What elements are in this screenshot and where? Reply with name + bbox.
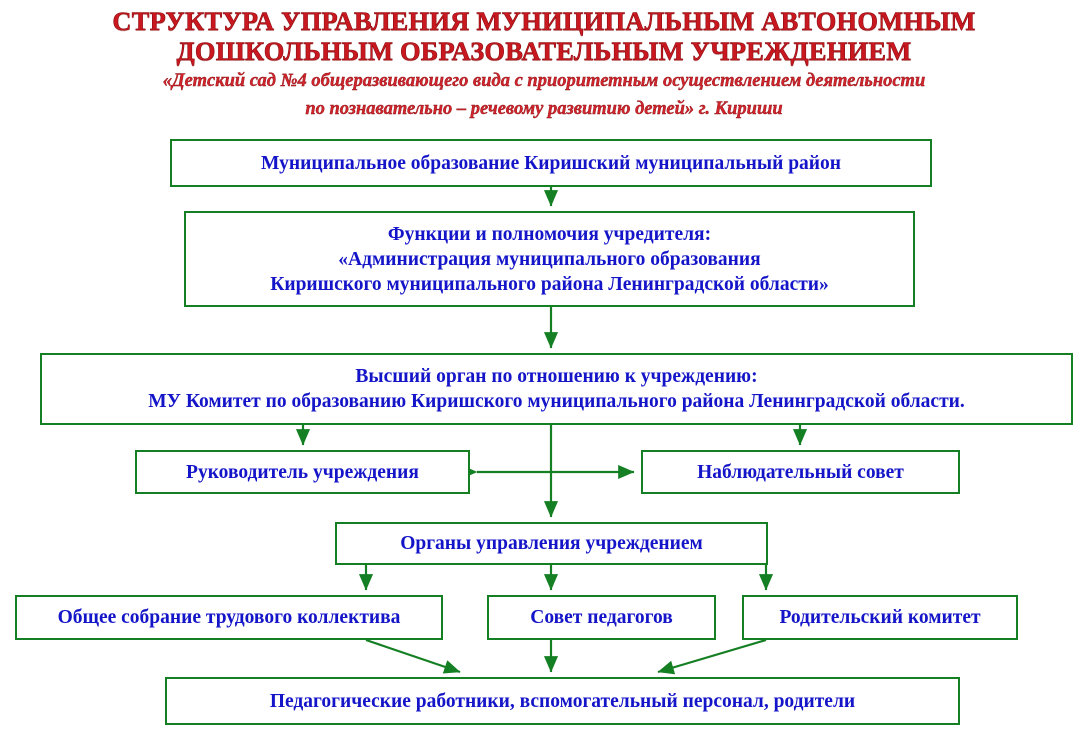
node-management-bodies[interactable]: Органы управления учреждением bbox=[335, 522, 768, 565]
node-text: Наблюдательный совет bbox=[649, 460, 952, 485]
node-teachers-council[interactable]: Совет педагогов bbox=[487, 595, 716, 640]
node-text: Руководитель учреждения bbox=[143, 460, 462, 485]
node-staff-and-parents[interactable]: Педагогические работники, вспомогательны… bbox=[165, 677, 960, 725]
node-text: Высший орган по отношению к учреждению: bbox=[48, 364, 1065, 389]
node-text: Педагогические работники, вспомогательны… bbox=[173, 689, 952, 714]
edge-assembly-staff bbox=[366, 640, 460, 672]
node-parents-committee[interactable]: Родительский комитет bbox=[742, 595, 1018, 640]
node-highest-body[interactable]: Высший орган по отношению к учреждению: … bbox=[40, 353, 1073, 425]
edge-parents-staff bbox=[658, 640, 766, 672]
title-line-1: СТРУКТУРА УПРАВЛЕНИЯ МУНИЦИПАЛЬНЫМ АВТОН… bbox=[0, 6, 1088, 36]
node-text: «Администрация муниципального образовани… bbox=[192, 247, 907, 272]
node-text: Родительский комитет bbox=[750, 605, 1010, 630]
node-text: Муниципальное образование Киришский муни… bbox=[178, 151, 924, 176]
node-text: МУ Комитет по образованию Киришского мун… bbox=[48, 389, 1065, 414]
page-title: СТРУКТУРА УПРАВЛЕНИЯ МУНИЦИПАЛЬНЫМ АВТОН… bbox=[0, 6, 1088, 122]
node-text: Органы управления учреждением bbox=[343, 531, 760, 556]
node-founder-functions[interactable]: Функции и полномочия учредителя: «Админи… bbox=[184, 211, 915, 307]
title-line-2: ДОШКОЛЬНЫМ ОБРАЗОВАТЕЛЬНЫМ УЧРЕЖДЕНИЕМ bbox=[0, 36, 1088, 66]
node-text: Киришского муниципального района Ленингр… bbox=[192, 272, 907, 297]
node-institution-head[interactable]: Руководитель учреждения bbox=[135, 450, 470, 494]
node-text: Общее собрание трудового коллектива bbox=[23, 605, 435, 630]
subtitle-line-1: «Детский сад №4 общеразвивающего вида с … bbox=[0, 69, 1088, 94]
subtitle-line-2: по познавательно – речевому развитию дет… bbox=[0, 97, 1088, 122]
diagram-canvas: СТРУКТУРА УПРАВЛЕНИЯ МУНИЦИПАЛЬНЫМ АВТОН… bbox=[0, 0, 1088, 742]
node-text: Функции и полномочия учредителя: bbox=[192, 222, 907, 247]
node-text: Совет педагогов bbox=[495, 605, 708, 630]
node-general-assembly[interactable]: Общее собрание трудового коллектива bbox=[15, 595, 443, 640]
node-supervisory-board[interactable]: Наблюдательный совет bbox=[641, 450, 960, 494]
node-municipal-formation[interactable]: Муниципальное образование Киришский муни… bbox=[170, 139, 932, 187]
